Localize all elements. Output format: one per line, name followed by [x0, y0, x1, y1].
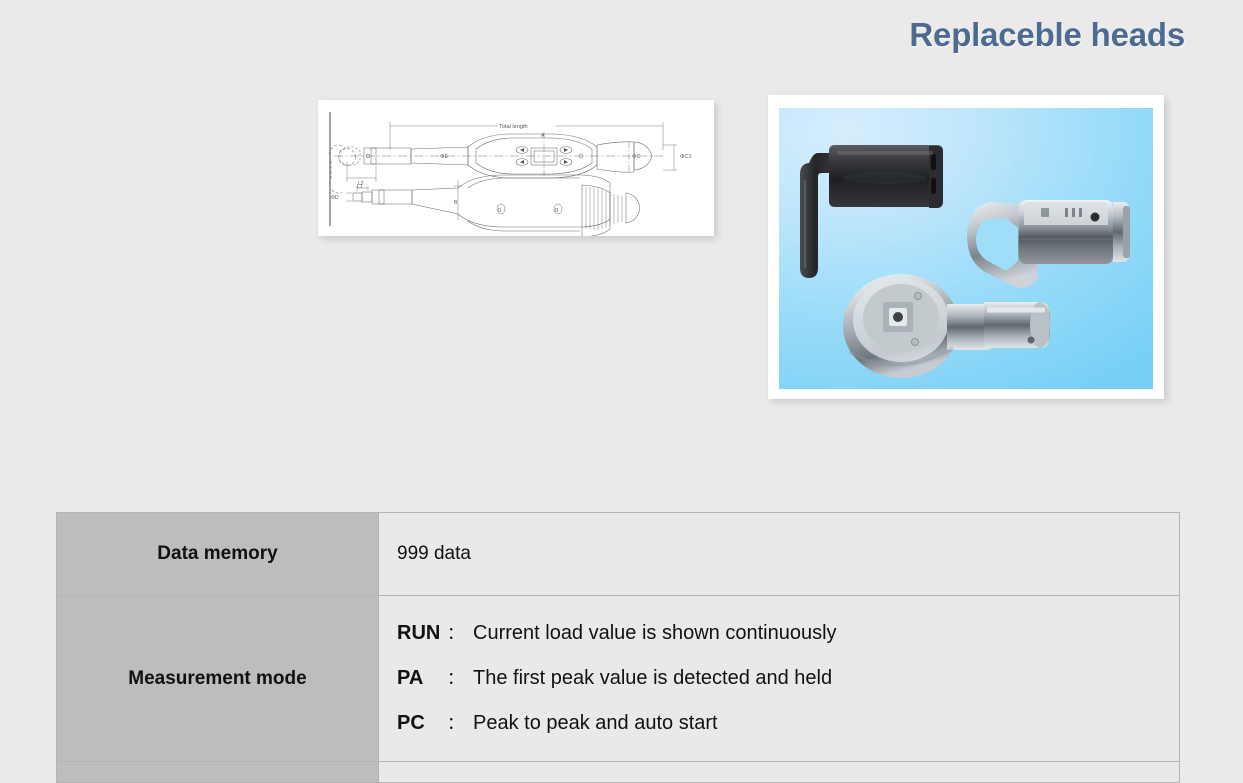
mode-description-run: Current load value is shown continuously — [473, 611, 837, 655]
photo-canvas — [779, 108, 1153, 389]
mode-key-pc: PC — [397, 701, 445, 745]
spec-table: Data memory 999 data Measurement mode RU… — [56, 512, 1180, 783]
media-row: Total length A ΦE ΦC ΦC1 L1 L2 ΦD B 0 0 — [0, 0, 1243, 470]
table-row — [57, 762, 1180, 783]
spec-label-data-memory: Data memory — [57, 513, 379, 596]
table-row: Data memory 999 data — [57, 513, 1180, 596]
drawing-label-l2: L2 — [358, 181, 364, 187]
mode-description-pc: Peak to peak and auto start — [473, 701, 718, 745]
replaceable-heads-photo — [768, 95, 1164, 399]
list-item: PC ： Peak to peak and auto start — [397, 701, 1179, 746]
drawing-label-phi-e: ΦE — [440, 154, 448, 160]
mode-separator: ： — [445, 612, 473, 656]
list-item: PA ： The first peak value is detected an… — [397, 656, 1179, 701]
spec-value-next-row — [379, 762, 1180, 783]
spec-label-measurement-mode: Measurement mode — [57, 596, 379, 762]
torque-wrench-dimension-drawing: Total length A ΦE ΦC ΦC1 L1 L2 ΦD B 0 0 — [318, 100, 714, 236]
measurement-mode-list: RUN ： Current load value is shown contin… — [397, 611, 1179, 746]
spec-value-measurement-mode: RUN ： Current load value is shown contin… — [379, 596, 1180, 762]
replaceable-heads-illustration — [779, 108, 1153, 389]
drawing-label-b: B — [454, 200, 458, 206]
mode-description-pa: The first peak value is detected and hel… — [473, 656, 832, 700]
drawing-label-phi-c: ΦC — [632, 154, 641, 160]
mode-key-run: RUN — [397, 611, 445, 655]
drawing-label-phi-d: ΦD — [331, 195, 339, 201]
mode-key-pa: PA — [397, 656, 445, 700]
spec-value-data-memory: 999 data — [379, 513, 1180, 596]
mode-separator: ： — [445, 702, 473, 746]
drawing-svg: Total length A ΦE ΦC ΦC1 L1 L2 ΦD B 0 0 — [318, 100, 714, 236]
spec-label-next-row — [57, 762, 379, 783]
drawing-label-total-length: Total length — [499, 124, 528, 130]
open-end-spanner-head — [967, 200, 1130, 288]
mode-separator: ： — [445, 657, 473, 701]
drawing-canvas: Total length A ΦE ΦC ΦC1 L1 L2 ΦD B 0 0 — [318, 100, 714, 236]
drawing-label-mark-right: 0 — [555, 208, 558, 214]
drawing-label-mark-left: 0 — [498, 208, 501, 214]
drawing-label-phi-c1: ΦC1 — [680, 154, 692, 160]
table-row: Measurement mode RUN ： Current load valu… — [57, 596, 1180, 762]
list-item: RUN ： Current load value is shown contin… — [397, 611, 1179, 656]
black-hex-socket-head — [800, 145, 943, 278]
ratchet-head — [843, 274, 1050, 378]
